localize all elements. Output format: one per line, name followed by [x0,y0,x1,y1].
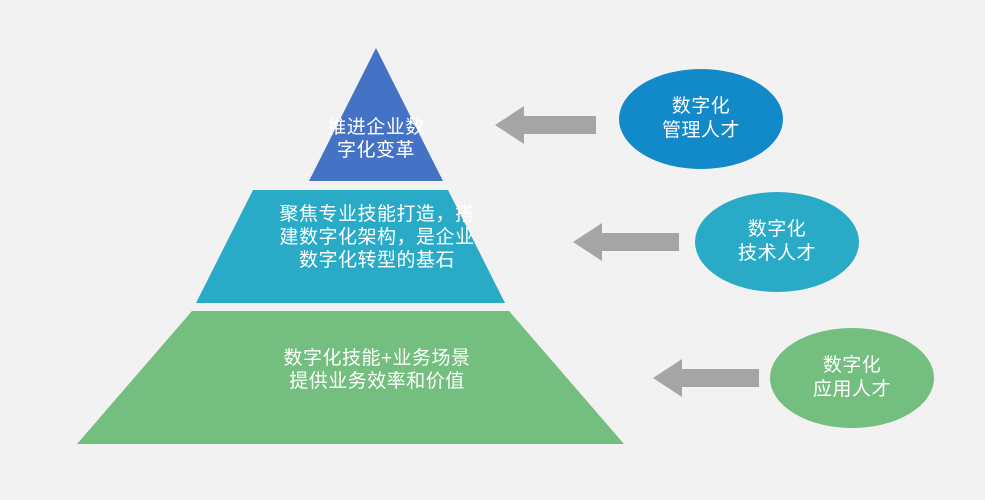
pyramid-tier-bottom-shape[interactable] [77,311,624,444]
callout-technical-talent[interactable]: 数字化 技术人才 [695,192,859,292]
arrow-to-top-tier-icon [495,106,596,144]
callout-application-talent[interactable]: 数字化 应用人才 [770,328,934,428]
pyramid-diagram: 推进企业数 字化变革 聚焦专业技能打造，搭 建数字化架构，是企业 数字化转型的基… [0,0,985,500]
pyramid-tier-middle-shape[interactable] [196,190,505,303]
pyramid-tier-top-shape[interactable] [309,48,443,181]
arrow-to-bottom-tier-icon [653,359,759,397]
arrow-to-middle-tier-icon [573,223,679,261]
callout-management-talent[interactable]: 数字化 管理人才 [619,69,783,169]
